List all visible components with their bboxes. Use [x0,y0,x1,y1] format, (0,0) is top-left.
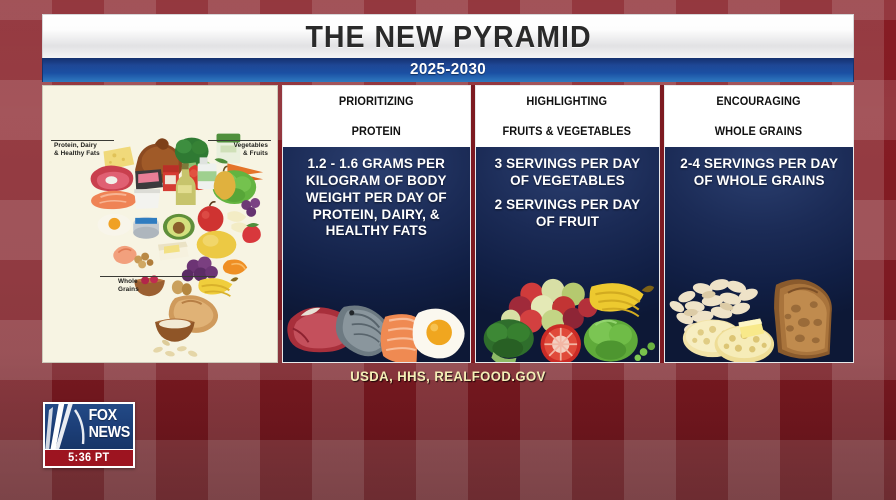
column-protein-photo [283,240,470,362]
grain-foods-photo [665,190,853,362]
pyramid-label-protein-line2: & Healthy Fats [54,150,100,158]
column-whole-grains-copy: 2-4 SERVINGS PER DAY OF WHOLE GRAINS [665,147,853,190]
news-graphic-card: THE NEW PYRAMID 2025-2030 [42,14,854,394]
food-pyramid-image: Protein, Dairy & Healthy Fats Vegetables… [42,85,278,363]
pyramid-rule-right [208,140,271,141]
fox-news-logo-bug: FOX NEWS 5:36 PT [43,402,135,468]
column-whole-grains-header-line2: WHOLE GRAINS [715,124,802,139]
food-pyramid-illustration [43,86,277,362]
column-fruits-vegetables-copy-line2: 2 SERVINGS PER DAY OF FRUIT [486,197,648,231]
pyramid-label-produce-line1: Vegetables [234,142,268,150]
column-whole-grains: ENCOURAGING WHOLE GRAINS 2-4 SERVINGS PE… [664,85,854,363]
column-fruits-vegetables-header-line2: FRUITS & VEGETABLES [503,124,632,139]
pyramid-label-protein-line1: Protein, Dairy [54,142,100,150]
page-title: THE NEW PYRAMID [305,19,591,55]
pyramid-label-grains: Whole Grains [118,278,139,294]
column-protein-body: 1.2 - 1.6 GRAMS PER KILOGRAM OF BODY WEI… [283,147,470,362]
column-whole-grains-photo [665,190,853,362]
graphic-body: Protein, Dairy & Healthy Fats Vegetables… [42,85,854,363]
pyramid-label-produce-line2: & Fruits [234,150,268,158]
column-protein-header-line1: PRIORITIZING [339,94,414,109]
column-protein: PRIORITIZING PROTEIN 1.2 - 1.6 GRAMS PER… [282,85,471,363]
column-whole-grains-body: 2-4 SERVINGS PER DAY OF WHOLE GRAINS [665,147,853,362]
column-whole-grains-header-line1: ENCOURAGING [715,94,802,109]
column-fruits-vegetables-photo [476,230,659,362]
column-whole-grains-copy-line: 2-4 SERVINGS PER DAY OF WHOLE GRAINS [675,156,843,190]
column-protein-copy: 1.2 - 1.6 GRAMS PER KILOGRAM OF BODY WEI… [283,147,470,240]
column-fruits-vegetables-header: HIGHLIGHTING FRUITS & VEGETABLES [476,86,659,147]
column-whole-grains-header: ENCOURAGING WHOLE GRAINS [665,86,853,147]
recommendation-columns: PRIORITIZING PROTEIN 1.2 - 1.6 GRAMS PER… [282,85,854,363]
broadcast-frame: THE NEW PYRAMID 2025-2030 [0,0,896,500]
fox-news-word-news: NEWS [89,424,130,441]
pyramid-label-protein: Protein, Dairy & Healthy Fats [54,142,100,158]
protein-foods-photo [283,240,470,362]
current-time: 5:36 PT [68,452,110,464]
date-range: 2025-2030 [410,61,486,79]
pyramid-label-grains-line1: Whole [118,278,139,286]
column-fruits-vegetables: HIGHLIGHTING FRUITS & VEGETABLES 3 SERVI… [475,85,660,363]
column-fruits-vegetables-copy-line1: 3 SERVINGS PER DAY OF VEGETABLES [486,156,648,190]
graphic-title-band: THE NEW PYRAMID [42,14,854,58]
clock-bug: 5:36 PT [45,449,133,466]
graphic-date-band: 2025-2030 [42,58,854,82]
pyramid-rule-left [51,140,114,141]
column-protein-copy-line: 1.2 - 1.6 GRAMS PER KILOGRAM OF BODY WEI… [293,156,459,240]
pyramid-rule-bottom [100,276,215,277]
column-protein-header-line2: PROTEIN [339,124,414,139]
column-fruits-vegetables-copy: 3 SERVINGS PER DAY OF VEGETABLES 2 SERVI… [476,147,659,230]
fox-news-wordmark: FOX NEWS [89,407,130,441]
produce-foods-photo [476,230,659,362]
pyramid-label-grains-line2: Grains [118,286,139,294]
column-fruits-vegetables-header-line1: HIGHLIGHTING [503,94,632,109]
column-fruits-vegetables-body: 3 SERVINGS PER DAY OF VEGETABLES 2 SERVI… [476,147,659,362]
pyramid-label-produce: Vegetables & Fruits [234,142,268,158]
source-attribution: USDA, HHS, REALFOOD.GOV [54,369,842,384]
searchlight-icon [45,404,91,449]
fox-news-word-fox: FOX [89,407,117,424]
column-protein-header: PRIORITIZING PROTEIN [283,86,470,147]
fox-news-logo: FOX NEWS [45,404,133,449]
